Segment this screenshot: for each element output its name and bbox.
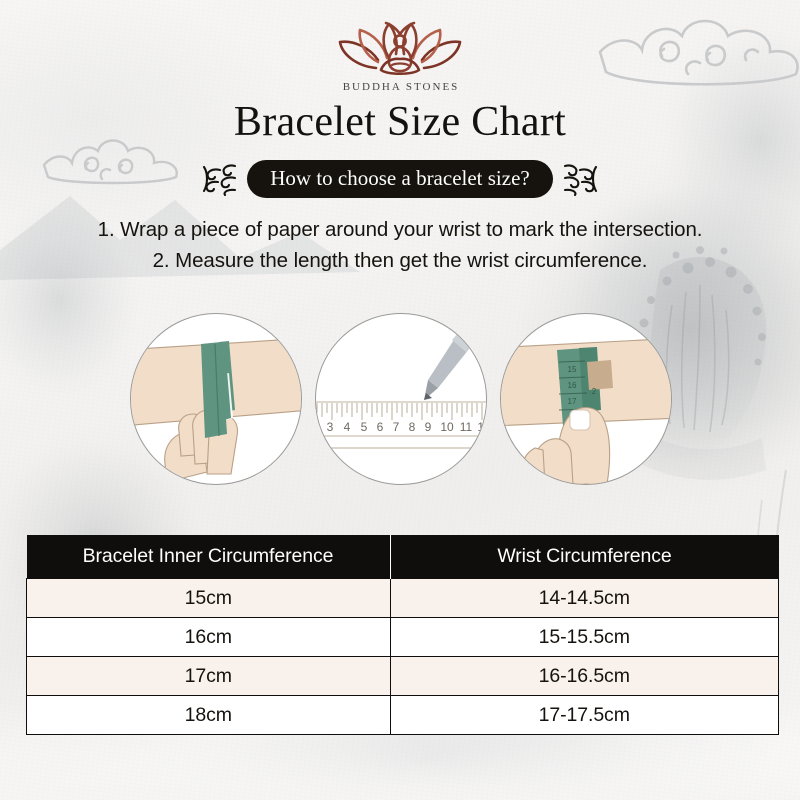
brand-name: BUDDHA STONES — [341, 81, 460, 93]
cell-wrist-circumference: 15-15.5cm — [390, 618, 779, 657]
cell-bracelet-circumference: 17cm — [27, 657, 391, 696]
lotus-meditation-icon — [336, 18, 464, 80]
table-row: 15cm 14-14.5cm — [27, 579, 779, 618]
svg-text:8: 8 — [409, 420, 416, 434]
arm-with-paper-strip-icon — [131, 314, 301, 484]
svg-text:5: 5 — [361, 420, 368, 434]
column-header-wrist: Wrist Circumference — [390, 535, 779, 579]
table-body: 15cm 14-14.5cm 16cm 15-15.5cm 17cm 16-16… — [27, 579, 779, 735]
page-title: Bracelet Size Chart — [0, 99, 800, 145]
svg-text:4: 4 — [344, 420, 351, 434]
svg-text:11: 11 — [460, 420, 473, 434]
svg-text:16: 16 — [568, 381, 577, 390]
table-header: Bracelet Inner Circumference Wrist Circu… — [27, 535, 779, 579]
svg-text:17: 17 — [568, 397, 577, 406]
svg-text:2: 2 — [592, 387, 597, 396]
svg-text:9: 9 — [425, 420, 432, 434]
cloud-flourish-icon — [562, 162, 598, 196]
svg-text:6: 6 — [377, 420, 384, 434]
pencil-icon — [424, 332, 473, 400]
subtitle-pill: How to choose a bracelet size? — [247, 160, 552, 198]
cloud-flourish-icon — [202, 162, 238, 196]
size-chart-page: BUDDHA STONES Bracelet Size Chart How to… — [0, 0, 800, 800]
brand-logo: BUDDHA STONES — [0, 18, 800, 93]
illustration-wrap-paper — [130, 313, 302, 485]
instruction-step-2: 2. Measure the length then get the wrist… — [0, 245, 800, 276]
cell-bracelet-circumference: 16cm — [27, 618, 391, 657]
svg-text:7: 7 — [393, 420, 400, 434]
ruler-and-pencil-icon: 3 4 5 6 7 8 9 10 11 12 — [316, 314, 486, 484]
svg-text:3: 3 — [327, 420, 334, 434]
cell-wrist-circumference: 14-14.5cm — [390, 579, 779, 618]
instruction-list: 1. Wrap a piece of paper around your wri… — [0, 214, 800, 276]
subtitle-row: How to choose a bracelet size? — [0, 160, 800, 198]
cell-bracelet-circumference: 18cm — [27, 696, 391, 735]
size-chart-table: Bracelet Inner Circumference Wrist Circu… — [26, 535, 779, 735]
cell-wrist-circumference: 16-16.5cm — [390, 657, 779, 696]
cell-wrist-circumference: 17-17.5cm — [390, 696, 779, 735]
table-header-row: Bracelet Inner Circumference Wrist Circu… — [27, 535, 779, 579]
table-row: 17cm 16-16.5cm — [27, 657, 779, 696]
tape-measure-on-wrist-icon: 15 16 17 2 — [501, 314, 671, 484]
svg-text:10: 10 — [440, 420, 454, 434]
column-header-bracelet: Bracelet Inner Circumference — [27, 535, 391, 579]
instruction-step-1: 1. Wrap a piece of paper around your wri… — [0, 214, 800, 245]
table-row: 18cm 17-17.5cm — [27, 696, 779, 735]
illustration-tape-measure: 15 16 17 2 — [500, 313, 672, 485]
cell-bracelet-circumference: 15cm — [27, 579, 391, 618]
table-row: 16cm 15-15.5cm — [27, 618, 779, 657]
illustration-measure-ruler: 3 4 5 6 7 8 9 10 11 12 — [315, 313, 487, 485]
svg-text:15: 15 — [568, 365, 577, 374]
illustration-row: 3 4 5 6 7 8 9 10 11 12 — [0, 313, 800, 485]
svg-text:12: 12 — [477, 420, 486, 434]
